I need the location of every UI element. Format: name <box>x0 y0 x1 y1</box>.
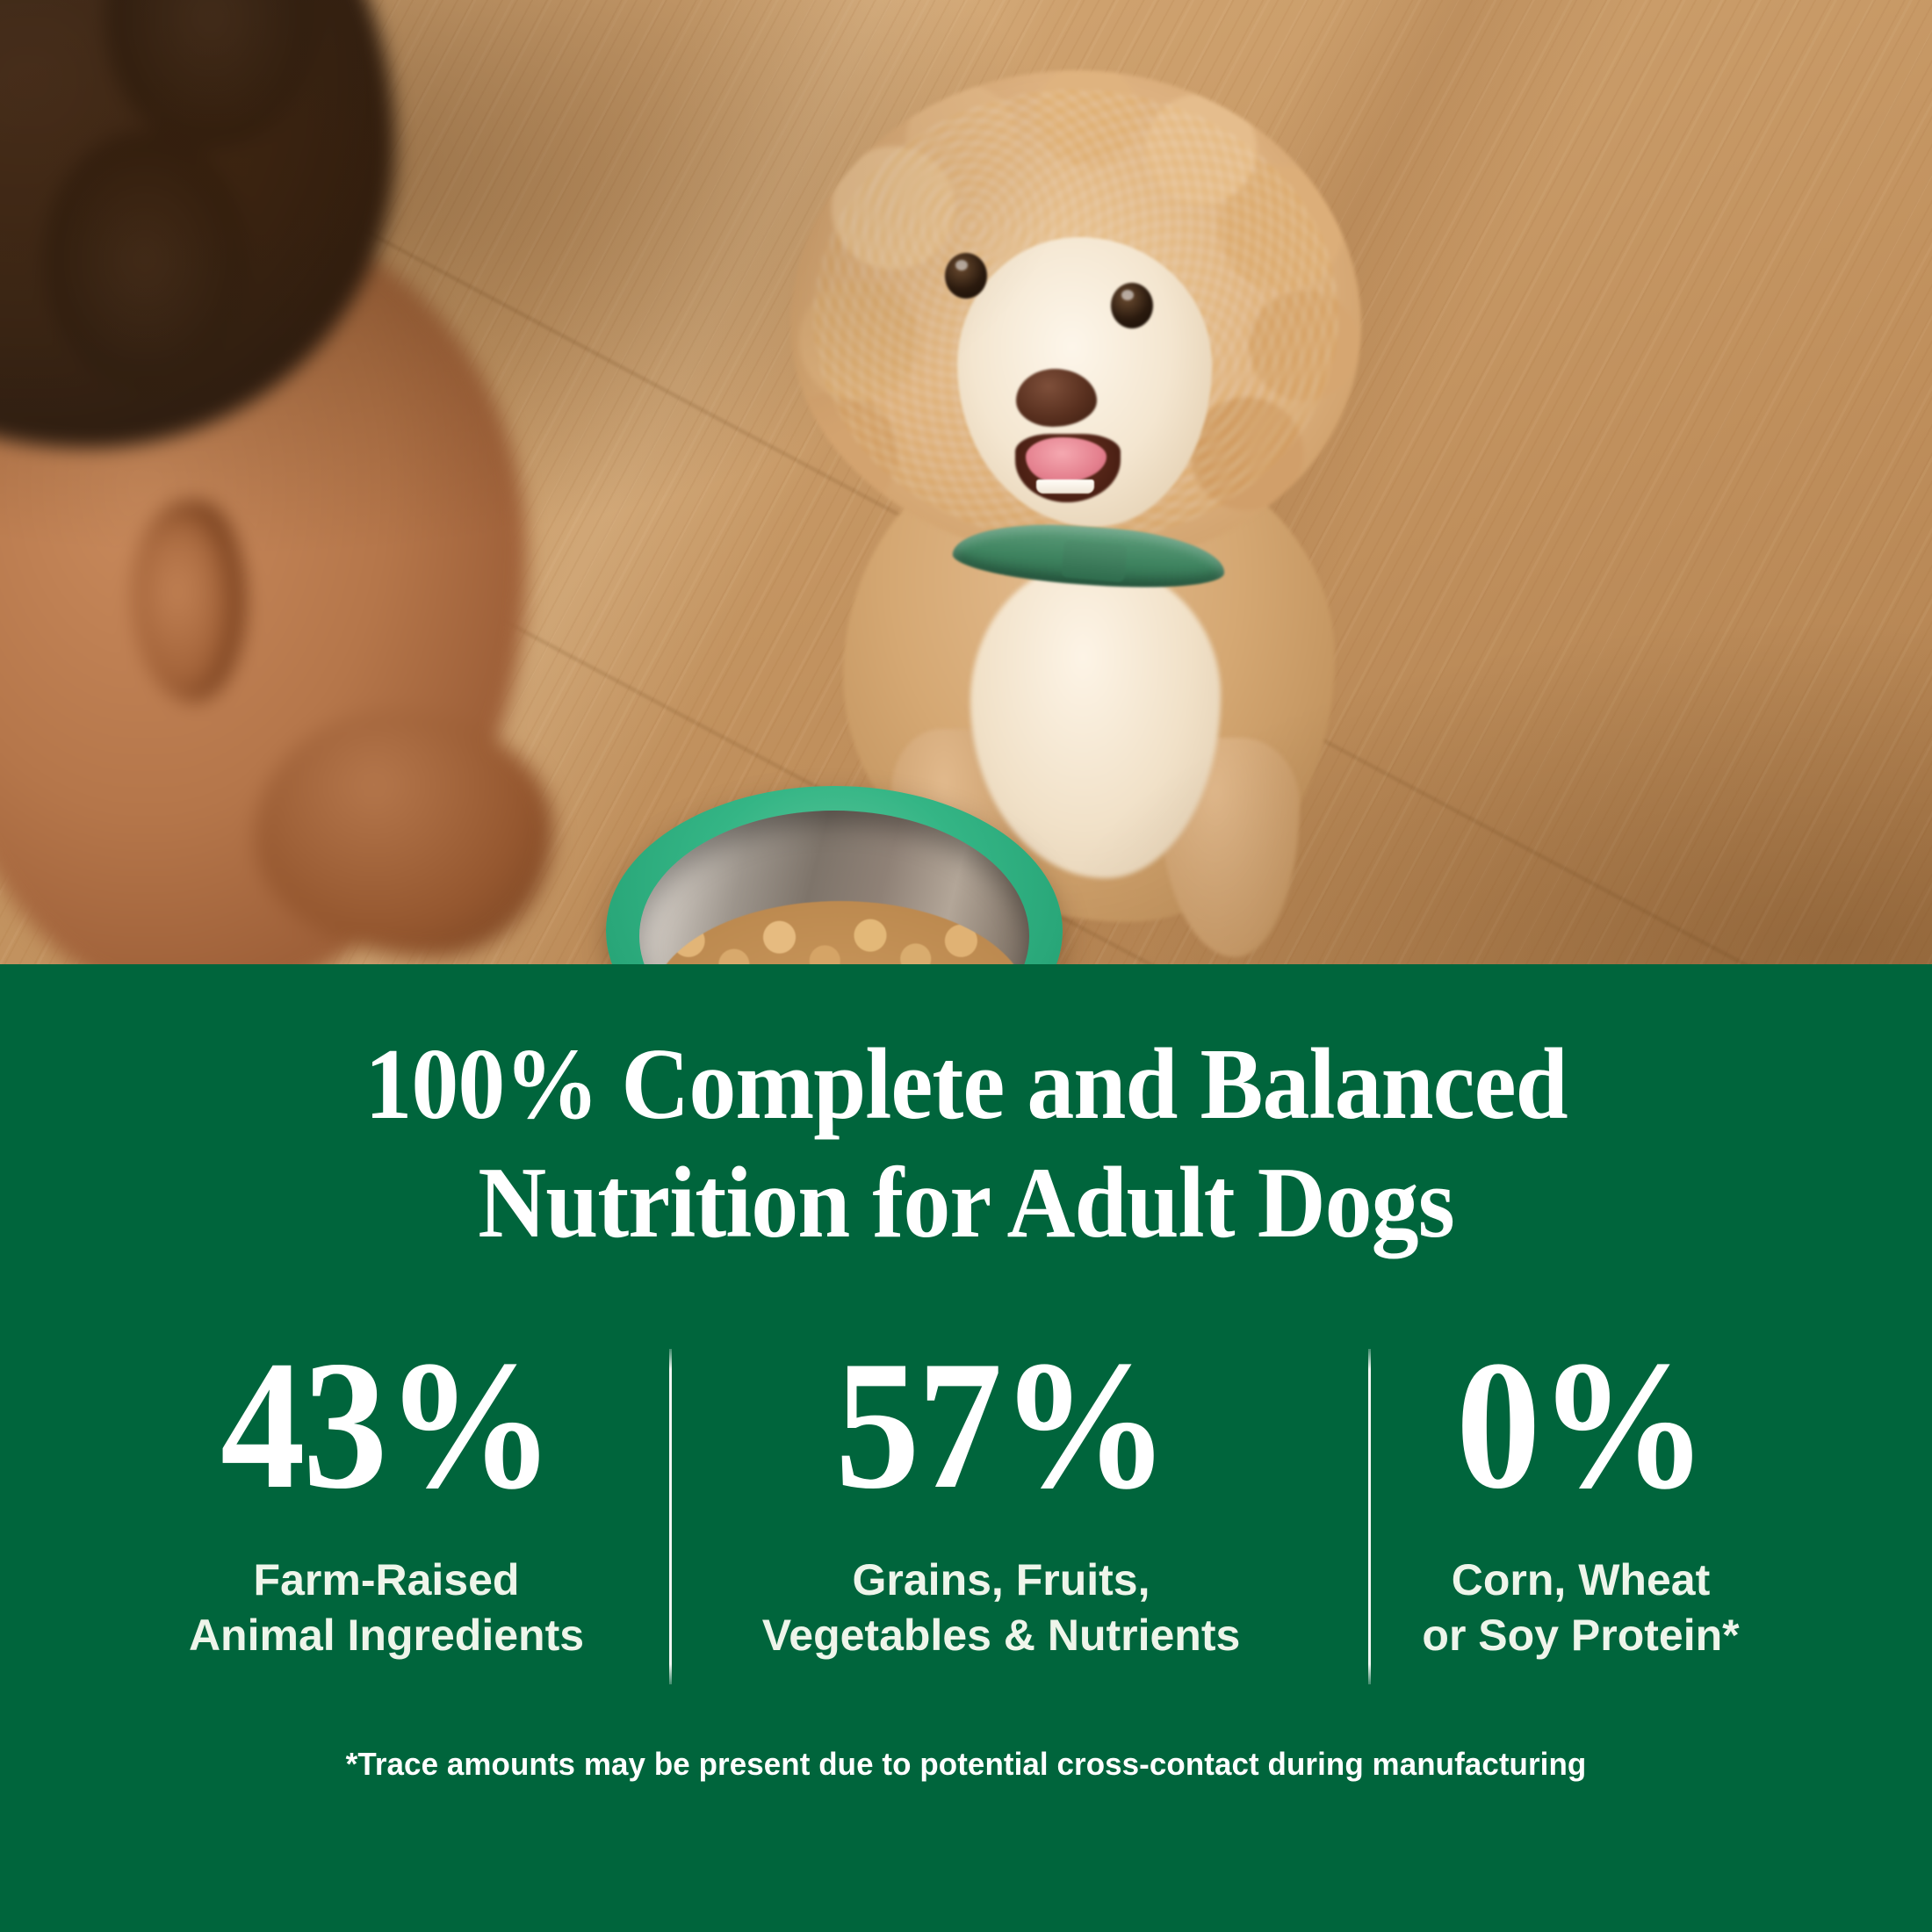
stat-value-57: 57% <box>694 1333 1308 1517</box>
stat-corn-wheat-soy: 0% Corn, Wheat or Soy Protein* <box>1335 1333 1827 1663</box>
stat-label-line-2: or Soy Protein* <box>1335 1608 1827 1663</box>
stat-farm-raised: 43% Farm-Raised Animal Ingredients <box>105 1333 667 1663</box>
stat-label-farm-raised: Farm-Raised Animal Ingredients <box>105 1553 667 1663</box>
infographic-canvas: 100% Complete and Balanced Nutrition for… <box>0 0 1932 1932</box>
headline-line-2: Nutrition for Adult Dogs <box>68 1144 1864 1263</box>
stats-row: 43% Farm-Raised Animal Ingredients 57% G… <box>97 1333 1835 1693</box>
footnote-disclaimer: *Trace amounts may be present due to pot… <box>29 1746 1903 1783</box>
stat-label-line-1: Grains, Fruits, <box>667 1553 1335 1608</box>
stat-divider-1 <box>669 1349 672 1684</box>
stat-divider-2 <box>1368 1349 1371 1684</box>
page-title: 100% Complete and Balanced Nutrition for… <box>68 1026 1864 1262</box>
nutrition-panel: 100% Complete and Balanced Nutrition for… <box>0 964 1932 1932</box>
stat-value-43: 43% <box>128 1333 645 1517</box>
stat-label-line-2: Vegetables & Nutrients <box>667 1608 1335 1663</box>
stat-value-0: 0% <box>1354 1333 1806 1517</box>
stat-label-line-2: Animal Ingredients <box>105 1608 667 1663</box>
headline-line-1: 100% Complete and Balanced <box>68 1026 1864 1144</box>
stat-label-corn-wheat-soy: Corn, Wheat or Soy Protein* <box>1335 1553 1827 1663</box>
stat-label-line-1: Farm-Raised <box>105 1553 667 1608</box>
photo-vignette <box>0 0 1932 964</box>
stat-grains-fruits: 57% Grains, Fruits, Vegetables & Nutrien… <box>667 1333 1335 1663</box>
hero-photo <box>0 0 1932 964</box>
stat-label-line-1: Corn, Wheat <box>1335 1553 1827 1608</box>
stat-label-grains-fruits: Grains, Fruits, Vegetables & Nutrients <box>667 1553 1335 1663</box>
